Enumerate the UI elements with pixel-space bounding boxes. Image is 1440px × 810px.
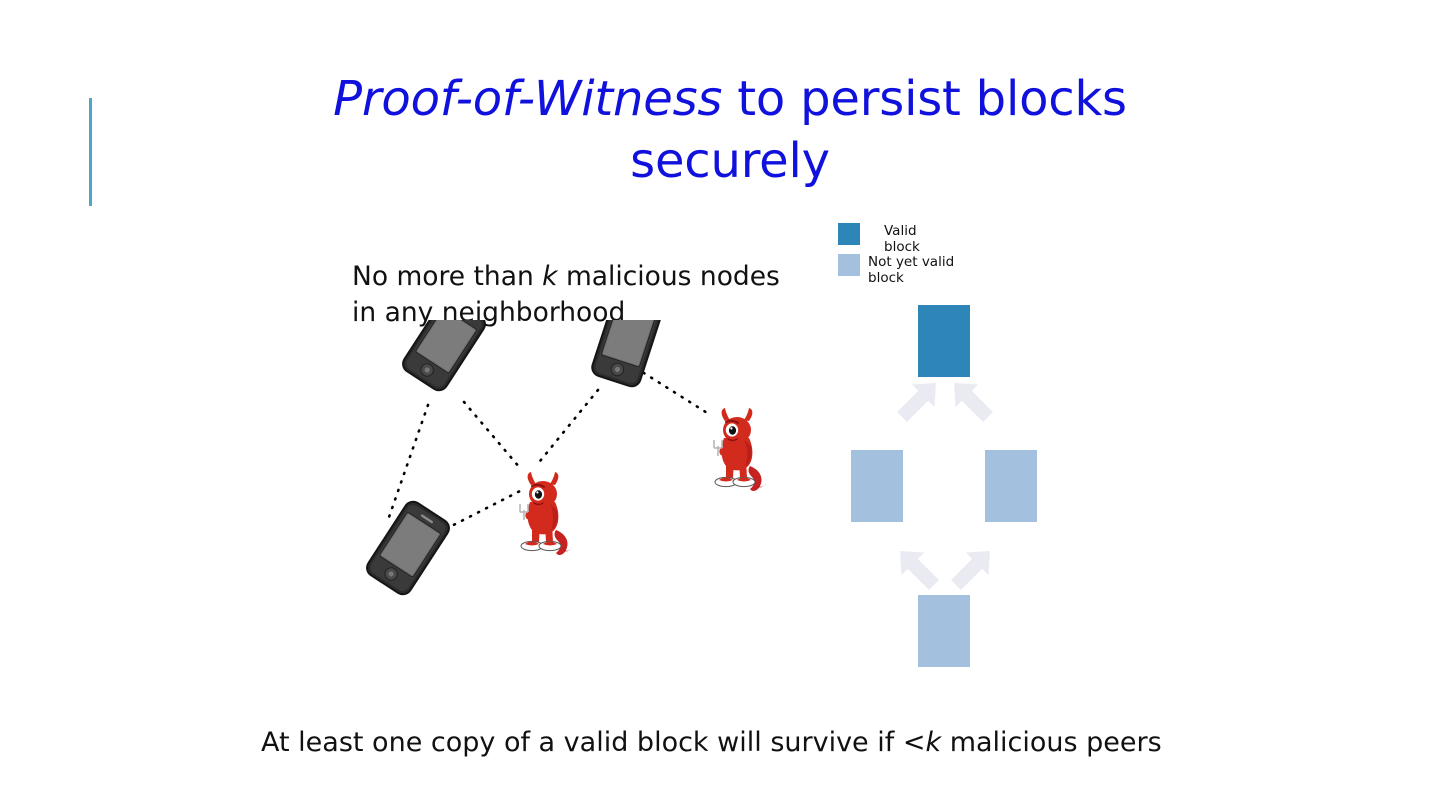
left-caption-before: No more than bbox=[352, 261, 542, 292]
node-phone-bottom-left bbox=[364, 498, 453, 597]
legend-item-not-yet-valid-block: Not yet valid block bbox=[838, 254, 954, 286]
arrow-midleft-to-top bbox=[891, 372, 948, 429]
slide-canvas: Proof-of-Witness to persist blocks secur… bbox=[0, 0, 1440, 810]
link-phone-top-right-daemon-right bbox=[636, 368, 712, 416]
network-diagram bbox=[340, 320, 800, 610]
legend-item-label: Valid block bbox=[884, 223, 920, 255]
arrow-bottom-to-midleft bbox=[889, 540, 946, 597]
block-top bbox=[918, 305, 970, 377]
node-daemon-center bbox=[520, 472, 572, 555]
arrow-bottom-to-midright bbox=[945, 540, 1002, 597]
title-emphasis: Proof-of-Witness bbox=[333, 71, 722, 127]
bottom-caption-before: At least one copy of a valid block will … bbox=[261, 727, 925, 758]
bottom-caption-emphasis: k bbox=[925, 727, 941, 758]
link-phone-top-right-daemon-center bbox=[536, 390, 598, 466]
bottom-caption: At least one copy of a valid block will … bbox=[261, 724, 1201, 761]
left-caption-emphasis: k bbox=[542, 261, 557, 292]
block-middle-left bbox=[851, 450, 903, 522]
link-phone-top-left-daemon-center bbox=[464, 402, 520, 468]
node-phone-top-left bbox=[400, 320, 489, 394]
block-middle-right bbox=[985, 450, 1037, 522]
accent-rule bbox=[89, 98, 92, 206]
page-title: Proof-of-Witness to persist blocks secur… bbox=[230, 68, 1230, 192]
node-daemon-right bbox=[714, 408, 766, 491]
legend-swatch-icon bbox=[838, 223, 860, 245]
block-bottom bbox=[918, 595, 970, 667]
arrow-midright-to-top bbox=[943, 372, 1000, 429]
legend-swatch-icon bbox=[838, 254, 860, 276]
block-diagram bbox=[840, 295, 1050, 670]
legend-item-label: Not yet valid block bbox=[868, 254, 954, 286]
legend-item-valid-block: Valid block bbox=[838, 223, 920, 255]
bottom-caption-after: malicious peers bbox=[941, 727, 1162, 758]
